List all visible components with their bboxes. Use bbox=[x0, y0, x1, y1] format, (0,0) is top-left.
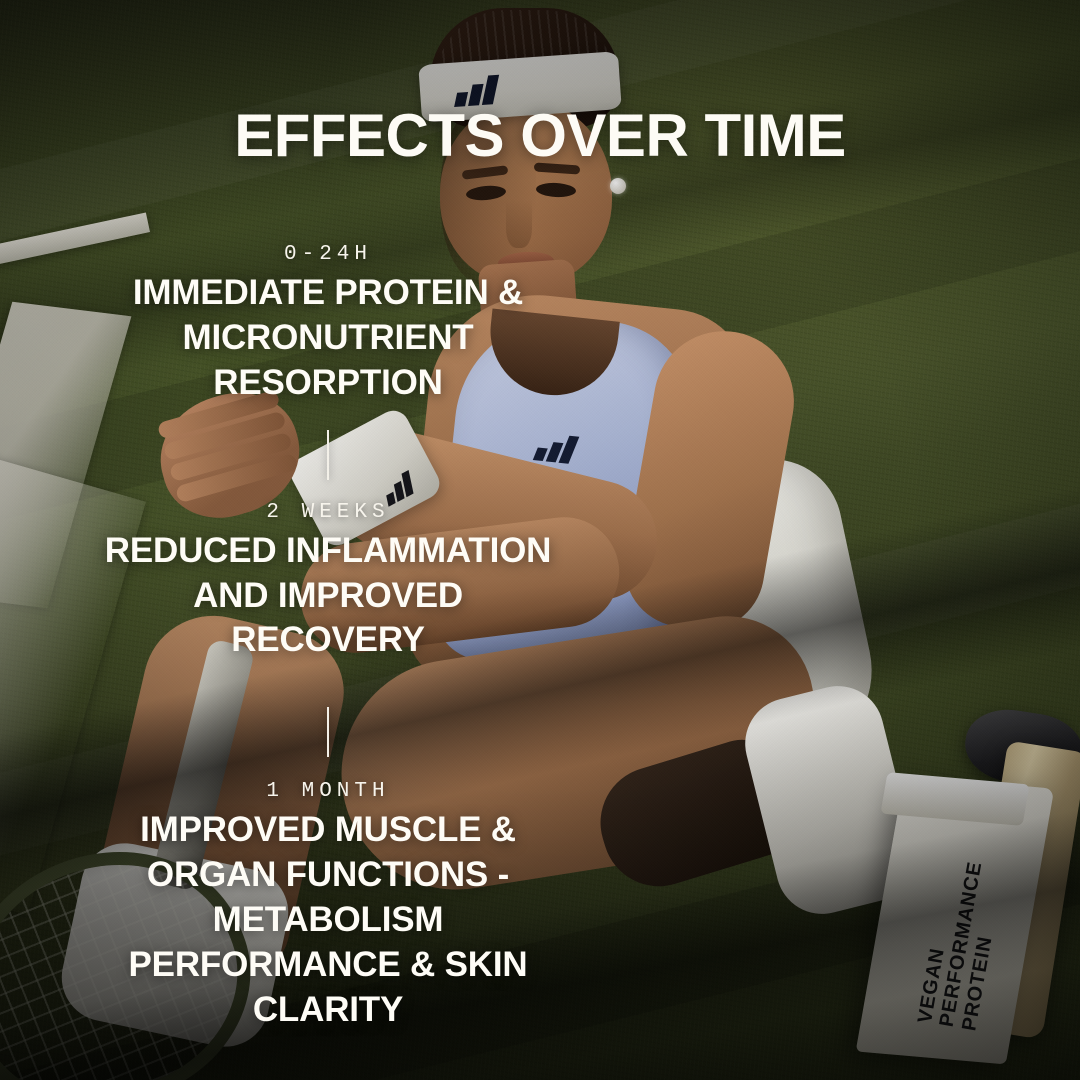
timeline-step-body: REDUCED INFLAMMATION AND IMPROVED RECOVE… bbox=[88, 529, 568, 663]
text-overlay: EFFECTS OVER TIME 0-24H IMMEDIATE PROTEI… bbox=[0, 0, 1080, 1080]
page-title: EFFECTS OVER TIME bbox=[0, 106, 1080, 166]
effects-timeline: 0-24H IMMEDIATE PROTEIN & MICRONUTRIENT … bbox=[88, 242, 568, 1032]
timeline-step-1-month: 1 MONTH IMPROVED MUSCLE & ORGAN FUNCTION… bbox=[88, 707, 568, 1032]
timeline-divider bbox=[327, 430, 329, 480]
timeline-step-body: IMPROVED MUSCLE & ORGAN FUNCTIONS - META… bbox=[88, 808, 568, 1032]
promo-creative: VEGAN PERFORMANCE PROTEIN EFFECTS OVER T… bbox=[0, 0, 1080, 1080]
timeline-step-0-24h: 0-24H IMMEDIATE PROTEIN & MICRONUTRIENT … bbox=[88, 242, 568, 406]
timeline-step-body: IMMEDIATE PROTEIN & MICRONUTRIENT RESORP… bbox=[88, 271, 568, 405]
timeline-step-label: 2 WEEKS bbox=[88, 500, 568, 525]
timeline-step-label: 0-24H bbox=[88, 242, 568, 267]
timeline-divider bbox=[327, 707, 329, 757]
timeline-step-2-weeks: 2 WEEKS REDUCED INFLAMMATION AND IMPROVE… bbox=[88, 430, 568, 664]
timeline-step-label: 1 MONTH bbox=[88, 779, 568, 804]
